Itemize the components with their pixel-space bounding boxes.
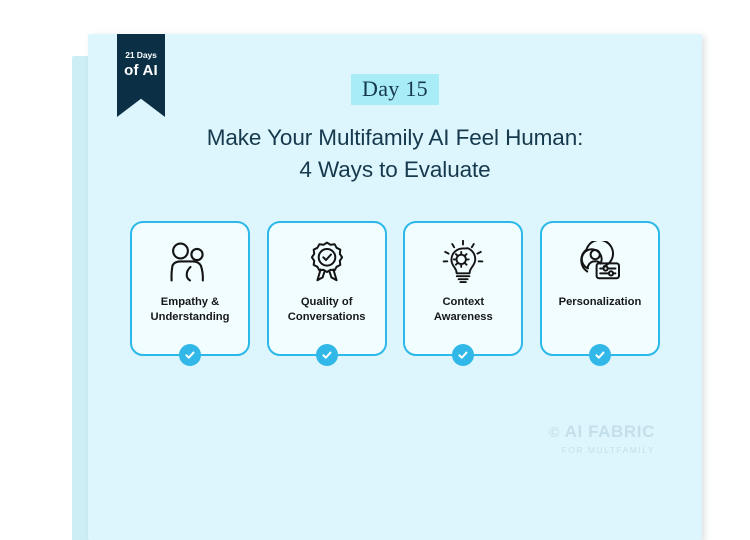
card-label: Personalization	[555, 295, 646, 310]
card-label: Context Awareness	[430, 295, 497, 326]
card-label: Quality of Conversations	[284, 295, 370, 326]
status-badge-check	[452, 344, 474, 366]
page-title: Make Your Multifamily AI Feel Human: 4 W…	[88, 122, 702, 186]
status-badge-check	[589, 344, 611, 366]
lightbulb-head-gear-icon	[439, 240, 487, 286]
slide-card: 21 Days of AI Day 15 Make Your Multifami…	[88, 34, 702, 540]
user-settings-sliders-icon	[576, 240, 624, 286]
title-line-1: Make Your Multifamily AI Feel Human:	[88, 122, 702, 154]
card-label-line-1: Context	[434, 295, 493, 310]
title-line-2: 4 Ways to Evaluate	[88, 154, 702, 186]
card-context-awareness[interactable]: Context Awareness	[403, 221, 523, 356]
copyright-icon: ©	[549, 424, 560, 440]
card-label-line-1: Personalization	[559, 295, 642, 310]
card-label-line-2: Understanding	[151, 310, 230, 325]
card-personalization[interactable]: Personalization	[540, 221, 660, 356]
card-empathy-understanding[interactable]: Empathy & Understanding	[130, 221, 250, 356]
status-badge-check	[316, 344, 338, 366]
slide-header: Day 15 Make Your Multifamily AI Feel Hum…	[88, 74, 702, 186]
two-people-empathy-icon	[165, 240, 215, 286]
watermark-tagline: FOR MULTFAMILY	[549, 445, 655, 455]
evaluation-cards-row: Empathy & Understanding	[130, 221, 660, 356]
award-rosette-check-icon	[304, 240, 350, 286]
slide-stage: 21 Days of AI Day 15 Make Your Multifami…	[0, 0, 750, 540]
card-label-line-1: Quality of	[288, 295, 366, 310]
watermark: © AI FABRIC FOR MULTFAMILY	[549, 422, 655, 455]
card-label-line-1: Empathy &	[151, 295, 230, 310]
card-label-line-2: Awareness	[434, 310, 493, 325]
card-quality-of-conversations[interactable]: Quality of Conversations	[267, 221, 387, 356]
watermark-brand: © AI FABRIC	[549, 422, 655, 442]
ribbon-line1: 21 Days	[117, 51, 165, 60]
watermark-brand-text: AI FABRIC	[565, 422, 655, 441]
card-label: Empathy & Understanding	[147, 295, 234, 326]
day-badge: Day 15	[351, 74, 439, 105]
status-badge-check	[179, 344, 201, 366]
card-label-line-2: Conversations	[288, 310, 366, 325]
